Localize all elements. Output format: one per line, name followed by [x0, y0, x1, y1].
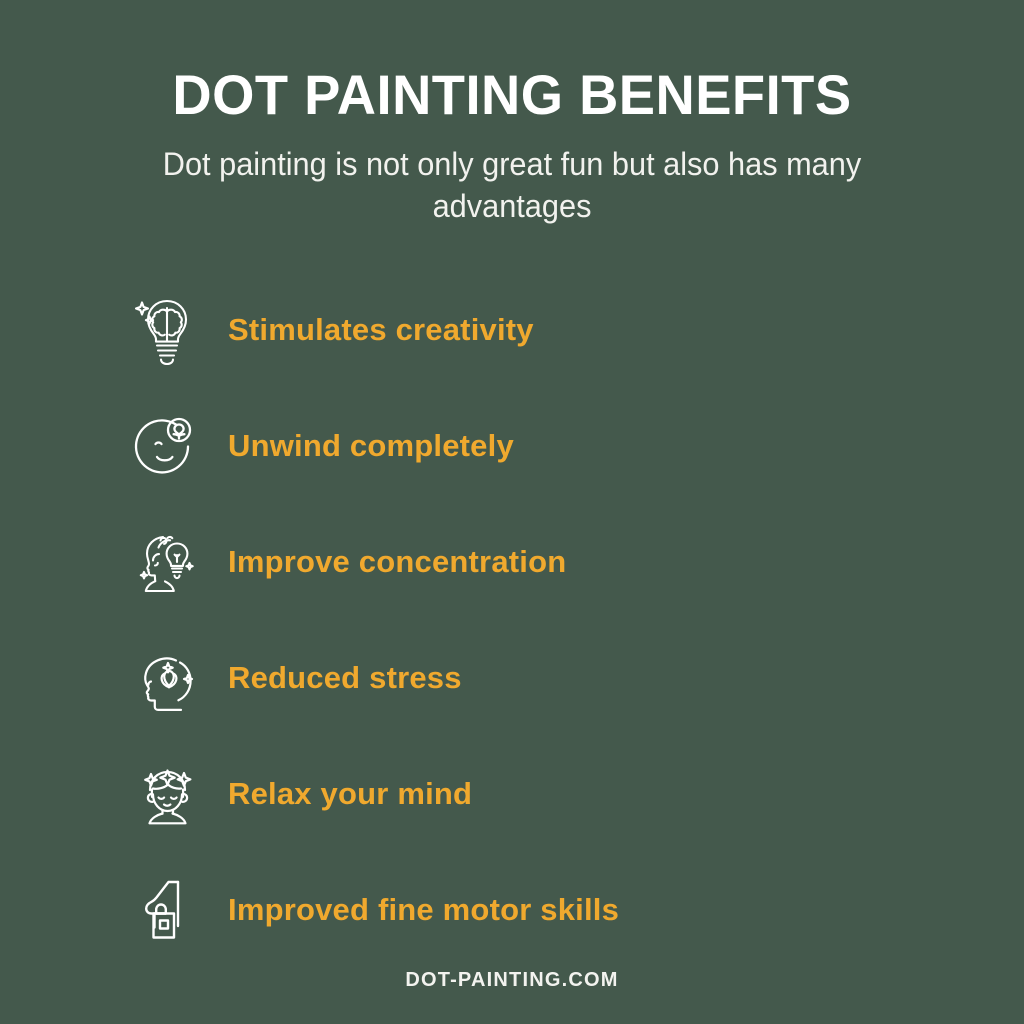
benefit-label: Improved fine motor skills: [228, 892, 619, 928]
list-item: Unwind completely: [128, 388, 928, 504]
poster-footer: DOT-PAINTING.COM: [0, 969, 1024, 992]
page-subtitle: Dot painting is not only great fun but a…: [157, 143, 867, 227]
list-item: Stimulates creativity: [128, 272, 928, 388]
benefit-label: Stimulates creativity: [228, 312, 534, 348]
list-item: Reduced stress: [128, 620, 928, 736]
list-item: Improved fine motor skills: [128, 852, 928, 968]
page-title: DOT PAINTING BENEFITS: [15, 66, 1008, 125]
head-profile-lightbulb-icon: [128, 521, 206, 603]
head-profile-lotus-icon: [128, 637, 206, 719]
poster-canvas: DOT PAINTING BENEFITS Dot painting is no…: [0, 0, 1024, 1024]
relaxed-face-sparkles-icon: [128, 753, 206, 835]
list-item: Improve concentration: [128, 504, 928, 620]
website-label: DOT-PAINTING.COM: [405, 969, 618, 991]
smiling-face-flower-icon: [128, 405, 206, 487]
brain-lightbulb-icon: [128, 289, 206, 371]
benefit-label: Unwind completely: [228, 428, 514, 464]
benefit-label: Relax your mind: [228, 776, 472, 812]
hand-holding-brush-icon: [128, 869, 206, 951]
list-item: Relax your mind: [128, 736, 928, 852]
benefit-label: Improve concentration: [228, 544, 566, 580]
benefits-list: Stimulates creativity Unwind completely: [128, 272, 928, 968]
benefit-label: Reduced stress: [228, 660, 462, 696]
poster-header: DOT PAINTING BENEFITS Dot painting is no…: [0, 0, 1024, 227]
